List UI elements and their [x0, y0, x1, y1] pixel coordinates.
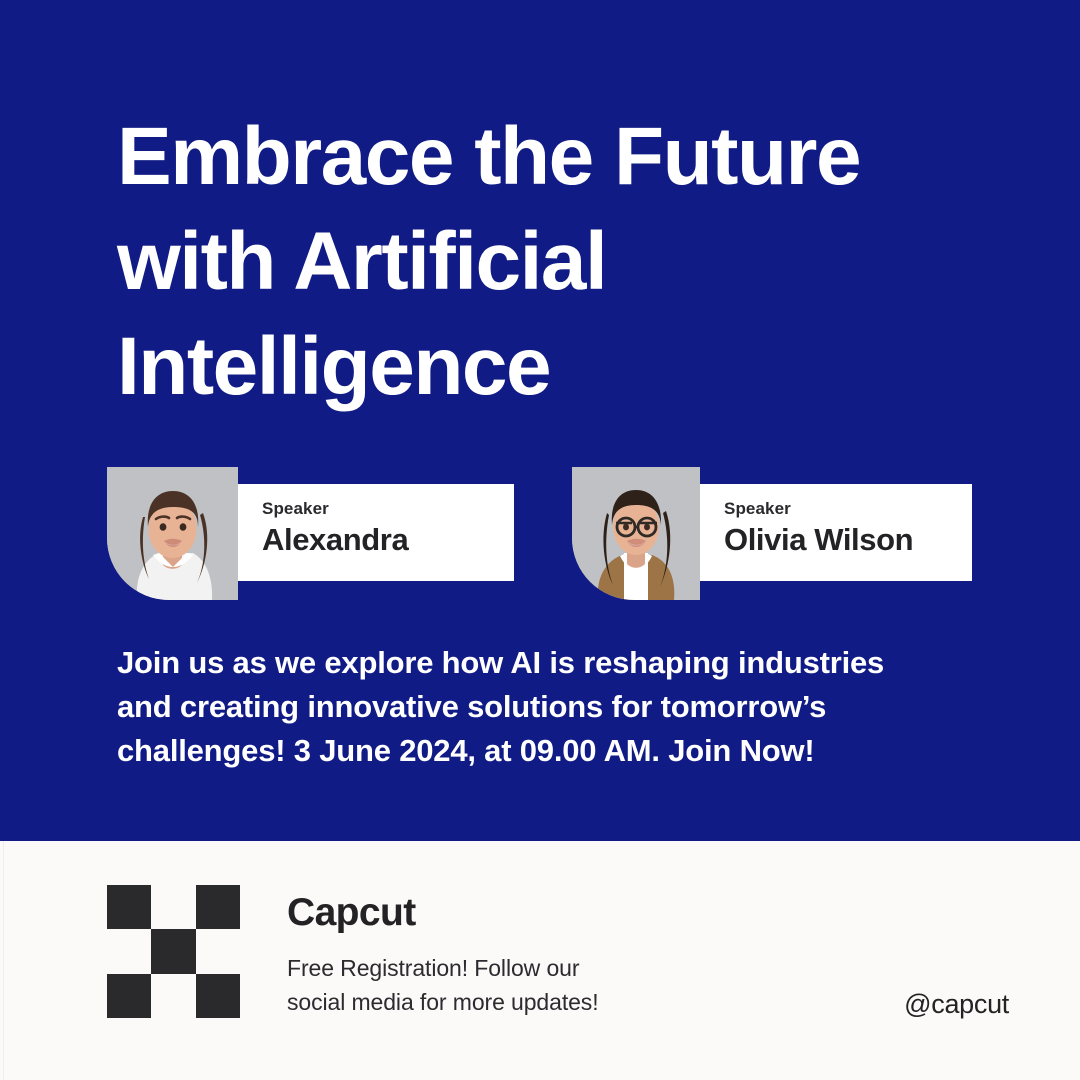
tagline-line-2: social media for more updates! [287, 985, 757, 1019]
logo-cell [151, 885, 195, 929]
poster-canvas: Embrace the Future with Artificial Intel… [0, 0, 1080, 1080]
description-line-3: challenges! 3 June 2024, at 09.00 AM. Jo… [117, 729, 997, 773]
logo-cell [196, 885, 240, 929]
portrait-illustration-icon [107, 467, 238, 600]
portrait-illustration-icon [572, 467, 700, 600]
avatar [107, 467, 238, 600]
logo-cell [107, 929, 151, 973]
logo-cell [107, 974, 151, 1018]
brand-tagline: Free Registration! Follow our social med… [287, 951, 757, 1019]
tagline-line-1: Free Registration! Follow our [287, 951, 757, 985]
footer-section: Capcut Free Registration! Follow our soc… [0, 841, 1080, 1080]
event-description: Join us as we explore how AI is reshapin… [117, 641, 997, 773]
speaker-name-plate: Speaker Olivia Wilson [700, 484, 972, 581]
logo-cell [151, 929, 195, 973]
speaker-role-label: Speaker [262, 499, 514, 519]
speaker-role-label: Speaker [724, 499, 972, 519]
social-handle[interactable]: @capcut [904, 989, 1009, 1020]
description-line-1: Join us as we explore how AI is reshapin… [117, 641, 997, 685]
brand-name: Capcut [287, 889, 757, 937]
avatar [572, 467, 700, 600]
logo-cell [151, 974, 195, 1018]
logo-cell [107, 885, 151, 929]
speaker-name: Alexandra [262, 519, 514, 561]
speaker-name: Olivia Wilson [724, 519, 972, 561]
logo-cell [196, 974, 240, 1018]
description-line-2: and creating innovative solutions for to… [117, 685, 997, 729]
logo-cell [196, 929, 240, 973]
footer-divider [3, 841, 4, 1080]
brand-block: Capcut Free Registration! Follow our soc… [287, 889, 757, 1019]
speaker-name-plate: Speaker Alexandra [238, 484, 514, 581]
hero-section: Embrace the Future with Artificial Intel… [0, 0, 1080, 841]
checkerboard-x-logo-icon [107, 885, 240, 1018]
